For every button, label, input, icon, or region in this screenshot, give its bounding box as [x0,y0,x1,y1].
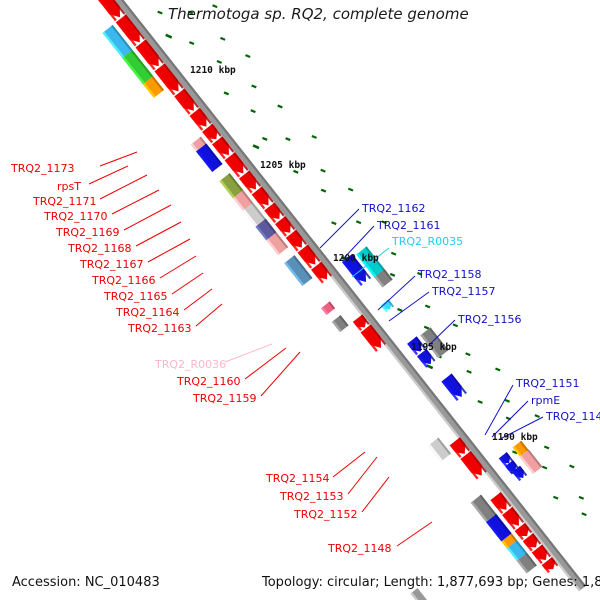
gene-label[interactable]: TRQ2_1171 [32,195,97,208]
gene-label[interactable]: TRQ2_1156 [457,313,522,326]
label-leader-line [184,289,212,310]
scale-tick-minor [217,61,222,63]
scale-tick-minor [466,353,471,355]
scale-tick-minor [553,497,558,499]
gene-label[interactable]: TRQ2_R0035 [391,235,463,248]
gene-label[interactable]: TRQ2_1169 [55,226,120,239]
label-leader-line [333,452,365,477]
label-leader-line [348,457,377,494]
gene-label[interactable]: TRQ2_1154 [265,472,330,485]
label-leader-line [362,477,389,512]
gene-label[interactable]: rpsT [57,180,81,193]
label-leader-line [225,344,272,362]
gene-label[interactable]: TRQ2_1158 [417,268,482,281]
scale-labels-layer: 1210 kbp1205 kbp1200 kbp1195 kbp1190 kbp [190,65,538,443]
scale-tick-minor [294,171,299,173]
gene-feature-forward-outer[interactable] [332,315,349,332]
scale-label: 1205 kbp [260,160,306,171]
label-leader-line [172,273,203,294]
label-leader-line [100,152,137,166]
gene-label[interactable]: rpmE [531,394,560,407]
label-leader-line [136,222,181,246]
label-leader-line [320,209,359,248]
gene-label[interactable]: TRQ2_1157 [431,285,496,298]
scale-tick-minor [246,55,251,57]
scale-tick-minor [391,253,396,255]
scale-tick-minor [570,466,575,468]
label-leader-line [397,522,432,546]
scale-tick-minor [582,513,587,515]
scale-tick-minor [252,85,257,87]
label-leader-line [89,166,128,184]
scale-tick-major [166,35,172,38]
scale-label: 1190 kbp [492,432,538,443]
gene-feature-forward-outer[interactable] [321,301,335,315]
scale-tick-minor [251,110,256,112]
gene-label[interactable]: TRQ2_1165 [103,290,168,303]
scale-tick-minor [262,138,267,140]
label-leader-line [112,190,159,214]
scale-tick-minor [286,138,291,140]
gene-label[interactable]: TRQ2_1161 [376,219,441,232]
scale-label: 1210 kbp [190,65,236,76]
scale-tick-minor [478,401,483,403]
page-title: Thermotoga sp. RQ2, complete genome [168,5,469,23]
label-leader-line [261,352,300,396]
label-leader-line [196,304,222,326]
genome-map-view: 1210 kbp1205 kbp1200 kbp1195 kbp1190 kbp… [0,0,600,600]
scale-tick-minor [348,189,353,191]
scale-tick-minor [544,447,549,449]
scale-tick-minor [321,190,326,192]
gene-label[interactable]: TRQ2_R0036 [154,358,226,371]
gene-label[interactable]: TRQ2_1160 [176,375,241,388]
scale-tick-minor [321,170,326,172]
accession-label: Accession: NC_010483 [12,575,160,590]
scale-tick-minor [356,221,361,223]
gene-label[interactable]: TRQ2_1170 [43,210,108,223]
scale-label: 1195 kbp [411,342,457,353]
scale-tick-minor [390,274,395,276]
scale-tick-minor [424,327,429,329]
scale-tick-minor [397,309,402,311]
gene-label[interactable]: TRQ2_1151 [515,377,580,390]
gene-label[interactable]: TRQ2_1173 [10,162,75,175]
scale-tick-minor [158,12,163,14]
gene-label[interactable]: TRQ2_1153 [279,490,344,503]
scale-tick-minor [332,222,337,224]
scale-tick-major [427,365,433,368]
scale-tick-minor [453,324,458,326]
gene-label[interactable]: TRQ2_1159 [192,392,257,405]
scale-tick-minor [495,369,500,371]
gene-label[interactable]: TRQ2_1163 [127,322,192,335]
gene-feature-reverse[interactable] [441,374,467,401]
scale-tick-minor [467,371,472,373]
label-leader-line [100,175,147,199]
scale-tick-minor [278,106,283,108]
gene-label[interactable]: TRQ2_1168 [67,242,132,255]
scale-tick-minor [542,467,547,469]
label-leader-lines [89,152,543,546]
gene-feature-forward-outer[interactable] [428,438,451,462]
gene-label[interactable]: TRQ2_1167 [79,258,144,271]
scale-tick-minor [505,400,510,402]
label-leader-line [160,256,196,278]
scale-tick-minor [425,305,430,307]
genome-summary-label: Topology: circular; Length: 1,877,693 bp… [261,575,600,590]
gene-label[interactable]: TRQ2_1162 [361,202,426,215]
scale-tick-major [253,145,259,148]
label-leader-line [124,205,171,230]
scale-tick-minor [312,136,317,138]
scale-tick-minor [535,415,540,417]
scale-label: 1200 kbp [333,253,379,264]
scale-tick-minor [579,497,584,499]
gene-label[interactable]: TRQ2_1149 [545,410,600,423]
gene-label[interactable]: TRQ2_1152 [293,508,358,521]
label-leader-line [148,239,190,262]
gene-label[interactable]: TRQ2_1164 [115,306,180,319]
label-leader-line [485,385,513,435]
scale-tick-minor [224,92,229,94]
label-leader-line [389,292,429,321]
genome-map-canvas: 1210 kbp1205 kbp1200 kbp1195 kbp1190 kbp… [0,0,600,600]
gene-label[interactable]: TRQ2_1148 [327,542,392,555]
gene-label[interactable]: TRQ2_1166 [91,274,156,287]
scale-tick-minor [189,42,194,44]
scale-tick-minor [220,38,225,40]
